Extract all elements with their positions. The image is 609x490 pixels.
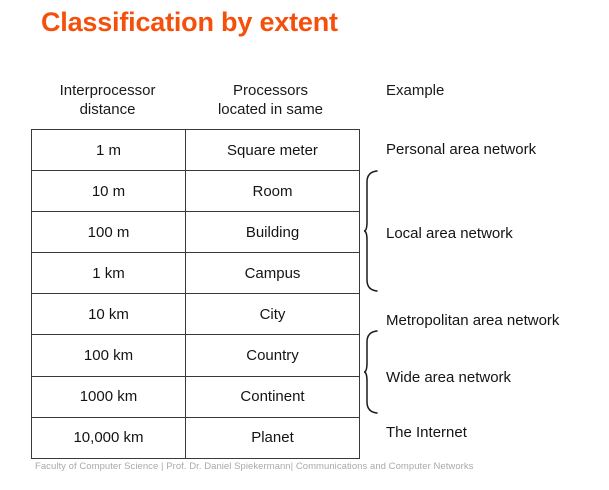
table-row: 10 km City xyxy=(32,294,360,335)
cell-distance: 100 m xyxy=(32,212,186,253)
curly-brace-icon-wide-area-network xyxy=(364,330,382,414)
curly-brace-icon-local-area-network xyxy=(364,170,382,292)
cell-distance: 10,000 km xyxy=(32,417,186,458)
column-header-processors-located: Processors located in same xyxy=(184,81,357,119)
cell-located: Country xyxy=(186,335,360,376)
cell-distance: 10 m xyxy=(32,171,186,212)
table-row: 10,000 km Planet xyxy=(32,417,360,458)
cell-distance: 10 km xyxy=(32,294,186,335)
example-label-local-area-network: Local area network xyxy=(386,226,513,242)
column-header-example: Example xyxy=(386,81,566,100)
cell-located: Room xyxy=(186,171,360,212)
extent-classification-table: 1 m Square meter 10 m Room 100 m Buildin… xyxy=(31,129,360,459)
column-header-line-2: distance xyxy=(31,100,184,119)
cell-located: Square meter xyxy=(186,130,360,171)
table-row: 10 m Room xyxy=(32,171,360,212)
slide-canvas: Classification by extent Interprocessor … xyxy=(0,0,609,490)
column-header-line-2: located in same xyxy=(184,100,357,119)
column-header-interprocessor-distance: Interprocessor distance xyxy=(31,81,184,119)
cell-located: Planet xyxy=(186,417,360,458)
example-label-wide-area-network: Wide area network xyxy=(386,370,511,386)
example-label-metropolitan-area-network: Metropolitan area network xyxy=(386,313,559,329)
cell-distance: 1 m xyxy=(32,130,186,171)
table-row: 100 m Building xyxy=(32,212,360,253)
table-body: 1 m Square meter 10 m Room 100 m Buildin… xyxy=(32,130,360,459)
slide-footer: Faculty of Computer Science | Prof. Dr. … xyxy=(35,461,473,472)
table-row: 1 m Square meter xyxy=(32,130,360,171)
cell-located: Building xyxy=(186,212,360,253)
cell-distance: 100 km xyxy=(32,335,186,376)
example-label-personal-area-network: Personal area network xyxy=(386,142,536,158)
column-header-line-1: Processors xyxy=(184,81,357,100)
cell-distance: 1000 km xyxy=(32,376,186,417)
cell-located: Campus xyxy=(186,253,360,294)
cell-distance: 1 km xyxy=(32,253,186,294)
example-label-the-internet: The Internet xyxy=(386,425,467,441)
table-row: 1 km Campus xyxy=(32,253,360,294)
table-row: 100 km Country xyxy=(32,335,360,376)
cell-located: Continent xyxy=(186,376,360,417)
column-header-line-1: Interprocessor xyxy=(31,81,184,100)
table-row: 1000 km Continent xyxy=(32,376,360,417)
page-title: Classification by extent xyxy=(41,7,338,38)
cell-located: City xyxy=(186,294,360,335)
